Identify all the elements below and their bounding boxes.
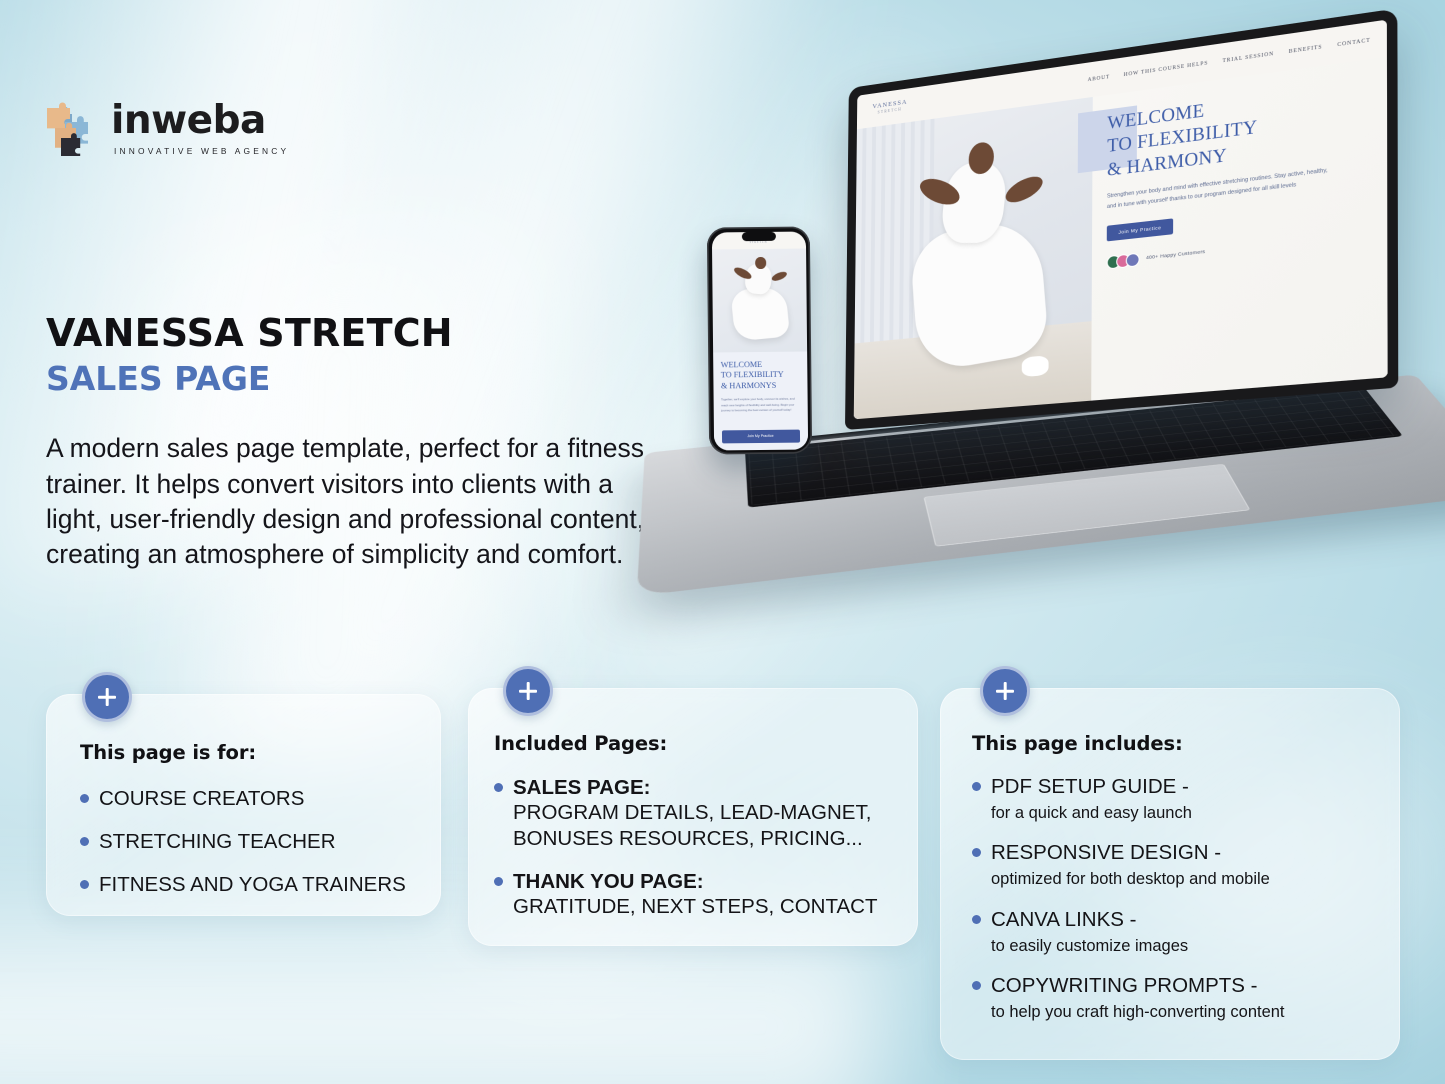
laptop-screen: VANESSA STRETCH ABOUT HOW THIS COURSE HE… xyxy=(854,20,1388,420)
figure-arm xyxy=(1003,172,1046,208)
brand-name: inweba xyxy=(111,101,289,140)
plus-icon[interactable] xyxy=(980,666,1030,716)
phone-mockup: VANESSA STRETCH WELCOME TO FLEXI xyxy=(707,226,812,454)
bullet-icon xyxy=(494,783,503,792)
list-item: CANVA LINKS - to easily customize images xyxy=(972,907,1400,957)
nav-link-trial-session[interactable]: TRIAL SESSION xyxy=(1222,51,1274,65)
page-title: VANESSA STRETCH xyxy=(46,312,686,355)
website-preview: VANESSA STRETCH ABOUT HOW THIS COURSE HE… xyxy=(854,20,1388,420)
bullet-icon xyxy=(494,877,503,886)
list-item: PDF SETUP GUIDE - for a quick and easy l… xyxy=(972,774,1400,824)
list-item-caption: optimized for both desktop and mobile xyxy=(991,869,1270,890)
hero-cta-button[interactable]: Join My Practice xyxy=(1107,218,1173,241)
figure-arm xyxy=(770,270,788,283)
phone-hero-copy: WELCOME TO FLEXIBILITY & HARMONYS Togeth… xyxy=(713,351,808,450)
list-item-caption: for a quick and easy launch xyxy=(991,803,1192,824)
list-item: FITNESS AND YOGA TRAINERS xyxy=(80,872,441,897)
list-item-caption: to easily customize images xyxy=(991,936,1188,957)
list-item: STRETCHING TEACHER xyxy=(80,829,441,854)
headline-block: VANESSA STRETCH SALES PAGE A modern sale… xyxy=(46,312,686,572)
bullet-icon xyxy=(972,915,981,924)
figure-head xyxy=(755,257,766,269)
phone-notch xyxy=(741,232,775,241)
list-item-caption: to help you craft high-converting conten… xyxy=(991,1002,1285,1023)
list-item-detail: BONUSES RESOURCES, PRICING... xyxy=(513,826,871,852)
bullet-icon xyxy=(972,782,981,791)
puzzle-pieces-icon xyxy=(45,100,99,156)
list-item-label: FITNESS AND YOGA TRAINERS xyxy=(99,872,406,897)
phone-hero-photo xyxy=(712,248,807,352)
phone-screen: VANESSA STRETCH WELCOME TO FLEXI xyxy=(711,231,807,450)
hero-photo xyxy=(854,97,1093,419)
bullet-icon xyxy=(972,848,981,857)
list-item-label: THANK YOU PAGE: xyxy=(513,869,877,894)
card-title: This page includes: xyxy=(972,732,1400,755)
list-item: COURSE CREATORS xyxy=(80,786,441,811)
card-title: This page is for: xyxy=(80,741,441,764)
page-description: A modern sales page template, perfect fo… xyxy=(46,431,646,572)
phone-heading-line2: TO FLEXIBILITY xyxy=(721,370,799,382)
nav-link-benefits[interactable]: BENEFITS xyxy=(1289,44,1323,55)
site-logo: VANESSA STRETCH xyxy=(872,99,907,116)
phone-hero-paragraph: Together, we'll explore your body, uncov… xyxy=(721,397,799,413)
brand-logo: inweba INNOVATIVE WEB AGENCY xyxy=(45,100,289,156)
nav-link-contact[interactable]: CONTACT xyxy=(1337,37,1370,48)
poster-canvas: inweba INNOVATIVE WEB AGENCY VANESSA STR… xyxy=(0,0,1445,1084)
nav-link-how-this-course-helps[interactable]: HOW THIS COURSE HELPS xyxy=(1124,60,1209,78)
photo-figure xyxy=(904,138,1053,392)
card-title: Included Pages: xyxy=(494,732,918,755)
bullet-icon xyxy=(80,837,89,846)
list-item: SALES PAGE: PROGRAM DETAILS, LEAD-MAGNET… xyxy=(494,775,918,851)
phone-logo-sub: STRETCH xyxy=(750,241,768,244)
plus-icon[interactable] xyxy=(82,672,132,722)
list-item: THANK YOU PAGE: GRATITUDE, NEXT STEPS, C… xyxy=(494,869,918,920)
info-card-audience: This page is for: COURSE CREATORS STRETC… xyxy=(46,694,441,916)
card-list: SALES PAGE: PROGRAM DETAILS, LEAD-MAGNET… xyxy=(494,775,918,920)
list-item: COPYWRITING PROMPTS - to help you craft … xyxy=(972,973,1400,1023)
phone-hero-heading: WELCOME TO FLEXIBILITY & HARMONYS xyxy=(721,359,799,393)
bullet-icon xyxy=(80,794,89,803)
list-item: RESPONSIVE DESIGN - optimized for both d… xyxy=(972,840,1400,890)
list-item-label: SALES PAGE: xyxy=(513,775,871,800)
avatar-group xyxy=(1107,252,1140,269)
info-card-page-includes: This page includes: PDF SETUP GUIDE - fo… xyxy=(940,688,1400,1060)
phone-heading-line1: WELCOME xyxy=(721,359,799,371)
device-mockups: VANESSA STRETCH ABOUT HOW THIS COURSE HE… xyxy=(640,60,1445,670)
figure-shoe xyxy=(1022,355,1049,377)
social-proof-label: 400+ Happy Customers xyxy=(1146,250,1205,261)
bullet-icon xyxy=(972,981,981,990)
list-item-label: COURSE CREATORS xyxy=(99,786,304,811)
brand-tagline: INNOVATIVE WEB AGENCY xyxy=(114,147,289,155)
hero-copy: WELCOME TO FLEXIBILITY & HARMONY Strengt… xyxy=(1091,57,1387,401)
plus-icon[interactable] xyxy=(503,666,553,716)
list-item-label: CANVA LINKS - xyxy=(991,907,1188,932)
nav-link-about[interactable]: ABOUT xyxy=(1088,74,1110,83)
list-item-label: PDF SETUP GUIDE - xyxy=(991,774,1192,799)
laptop-lid: VANESSA STRETCH ABOUT HOW THIS COURSE HE… xyxy=(845,8,1398,430)
card-list: COURSE CREATORS STRETCHING TEACHER FITNE… xyxy=(80,786,441,897)
list-item-detail: GRATITUDE, NEXT STEPS, CONTACT xyxy=(513,894,877,920)
site-logo-sub: STRETCH xyxy=(878,109,902,116)
phone-heading-line3: & HARMONYS xyxy=(721,381,799,393)
info-card-included-pages: Included Pages: SALES PAGE: PROGRAM DETA… xyxy=(468,688,918,946)
page-subtitle: SALES PAGE xyxy=(46,360,686,398)
photo-figure xyxy=(729,258,792,347)
list-item-label: COPYWRITING PROMPTS - xyxy=(991,973,1285,998)
phone-cta-button[interactable]: Join My Practice xyxy=(721,429,799,443)
list-item-detail: PROGRAM DETAILS, LEAD-MAGNET, xyxy=(513,800,871,826)
bullet-icon xyxy=(80,880,89,889)
card-list: PDF SETUP GUIDE - for a quick and easy l… xyxy=(972,774,1400,1024)
list-item-label: RESPONSIVE DESIGN - xyxy=(991,840,1270,865)
list-item-label: STRETCHING TEACHER xyxy=(99,829,336,854)
